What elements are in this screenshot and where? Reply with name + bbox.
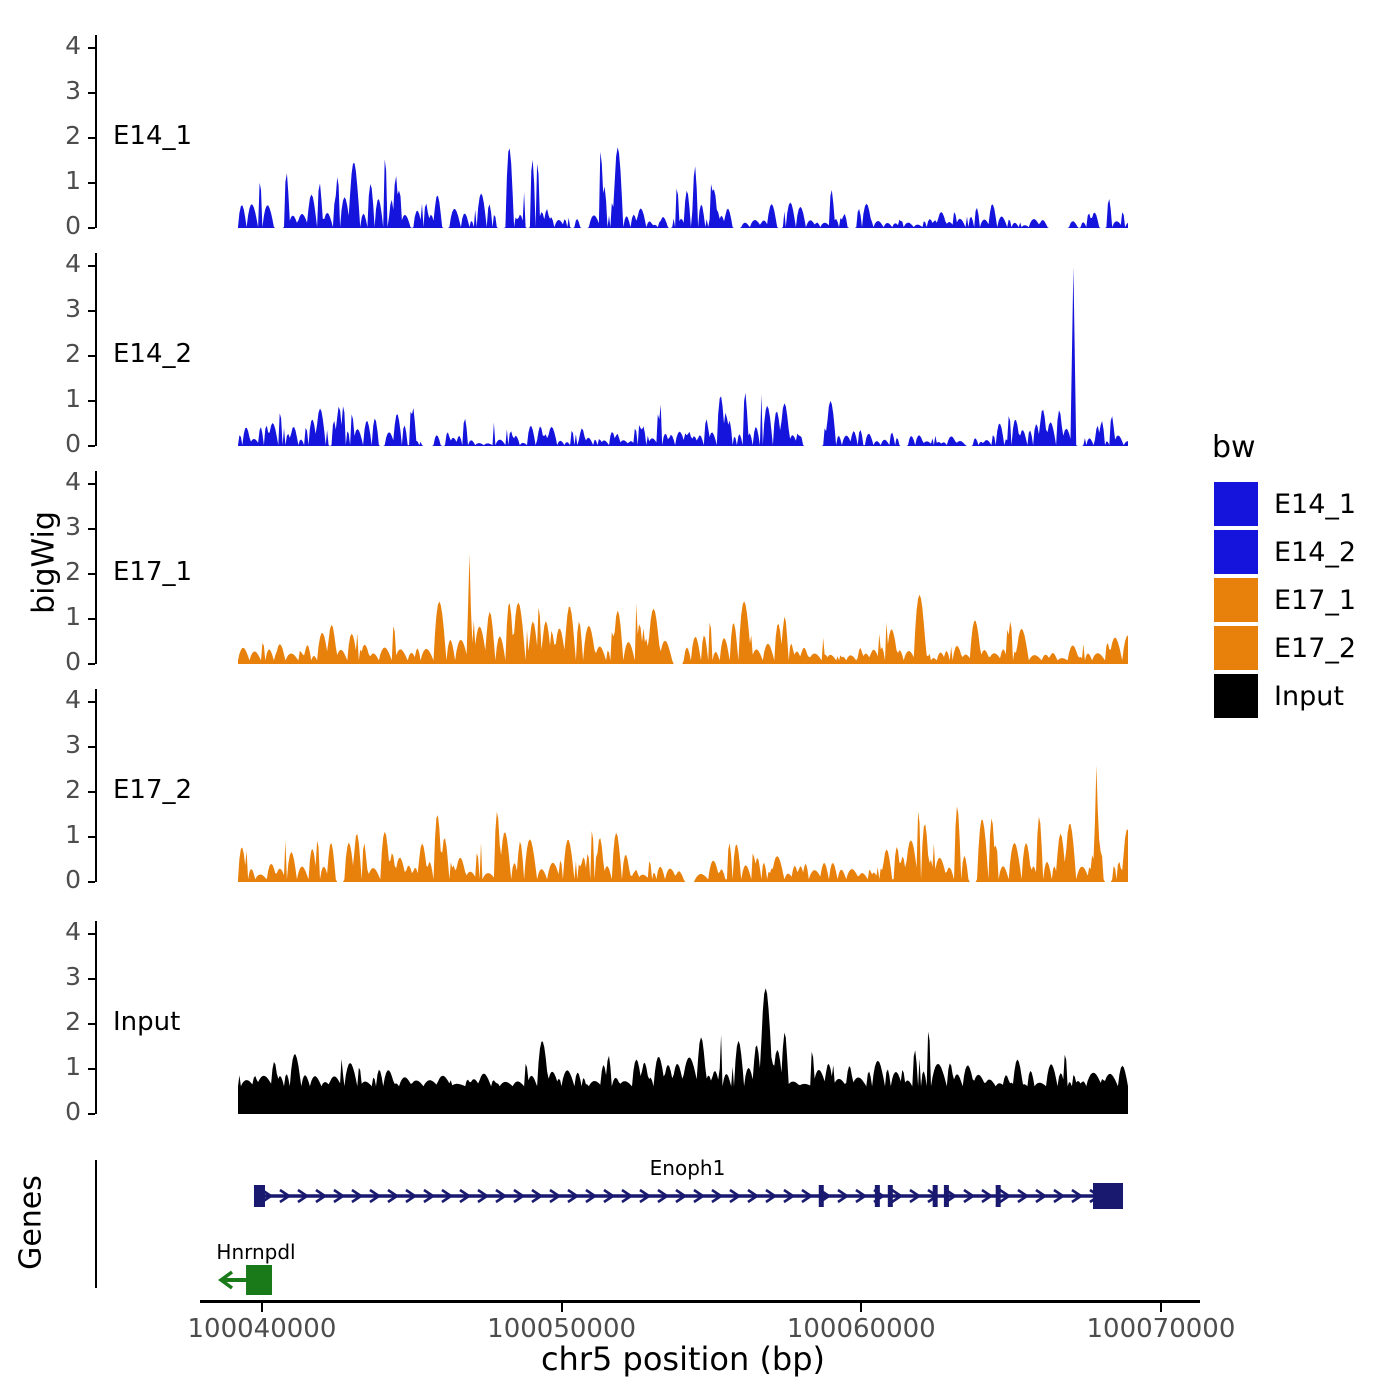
coverage-track-input[interactable]	[0, 0, 1400, 1400]
exon	[875, 1185, 880, 1207]
y-tick-e14_2-4	[88, 265, 95, 267]
y-tick-label-input-3: 3	[33, 962, 81, 991]
y-tick-input-1	[88, 1068, 95, 1070]
x-tick-100060000	[860, 1303, 862, 1312]
y-axis-title-genes: Genes	[14, 1163, 49, 1283]
exon	[819, 1185, 824, 1207]
y-tick-label-e17_2-2: 2	[33, 775, 81, 804]
y-tick-e17_1-4	[88, 483, 95, 485]
legend-label-e17_2: E17_2	[1274, 633, 1356, 664]
y-tick-label-e17_1-2: 2	[33, 557, 81, 586]
exon	[996, 1185, 1001, 1207]
y-axis-line-e14_1	[95, 35, 97, 228]
y-tick-e17_2-4	[88, 701, 95, 703]
y-tick-label-e17_2-4: 4	[33, 685, 81, 714]
legend-swatch-e14_1[interactable]	[1214, 482, 1258, 526]
y-tick-label-e17_2-1: 1	[33, 820, 81, 849]
exon	[944, 1185, 949, 1207]
exon	[259, 1185, 264, 1207]
genome-browser-figure: bigWig Genes 01234E14_101234E14_201234E1…	[0, 0, 1400, 1400]
y-tick-e17_1-2	[88, 573, 95, 575]
coverage-track-e14_1[interactable]	[0, 0, 1400, 1400]
y-tick-label-e14_2-1: 1	[33, 384, 81, 413]
y-axis-line-e17_2	[95, 689, 97, 882]
legend-label-e17_1: E17_1	[1274, 585, 1356, 616]
track-label-e17_1: E17_1	[113, 557, 192, 587]
y-tick-e17_1-1	[88, 618, 95, 620]
y-tick-e14_1-4	[88, 47, 95, 49]
y-tick-input-4	[88, 933, 95, 935]
x-tick-100050000	[561, 1303, 563, 1312]
x-axis-line	[200, 1300, 1200, 1303]
legend-label-e14_2: E14_2	[1274, 537, 1356, 568]
y-tick-label-e14_1-3: 3	[33, 76, 81, 105]
x-tick-100070000	[1160, 1303, 1162, 1312]
y-tick-e14_1-0	[88, 227, 95, 229]
legend: bw E14_1E14_2E17_1E17_2Input	[1212, 430, 1400, 690]
gene-enoph1[interactable]	[254, 1183, 1123, 1209]
gene-hnrnpdl[interactable]	[221, 1265, 272, 1295]
y-tick-label-e17_1-0: 0	[33, 647, 81, 676]
y-axis-line-e17_1	[95, 471, 97, 664]
y-tick-e14_2-2	[88, 355, 95, 357]
y-tick-label-e17_2-3: 3	[33, 730, 81, 759]
track-label-e17_2: E17_2	[113, 775, 192, 805]
y-tick-input-2	[88, 1023, 95, 1025]
exon-last	[1093, 1183, 1123, 1209]
y-tick-label-input-2: 2	[33, 1007, 81, 1036]
legend-label-input: Input	[1274, 681, 1344, 712]
legend-swatch-e14_2[interactable]	[1214, 530, 1258, 574]
y-tick-label-e14_2-3: 3	[33, 294, 81, 323]
track-label-input: Input	[113, 1007, 180, 1037]
y-tick-label-e17_1-4: 4	[33, 467, 81, 496]
y-tick-label-input-1: 1	[33, 1052, 81, 1081]
y-tick-e14_2-3	[88, 310, 95, 312]
y-tick-e17_2-1	[88, 836, 95, 838]
genes-panel-axis-line	[95, 1160, 97, 1288]
y-tick-e14_1-1	[88, 182, 95, 184]
y-tick-label-e14_2-4: 4	[33, 249, 81, 278]
y-tick-label-e14_1-4: 4	[33, 31, 81, 60]
y-tick-label-e14_2-0: 0	[33, 429, 81, 458]
gene-label-hnrnpdl: Hnrnpdl	[146, 1240, 366, 1264]
y-tick-label-input-4: 4	[33, 917, 81, 946]
y-tick-label-e14_1-2: 2	[33, 121, 81, 150]
legend-label-e14_1: E14_1	[1274, 489, 1356, 520]
track-label-e14_2: E14_2	[113, 339, 192, 369]
y-tick-e17_1-0	[88, 663, 95, 665]
x-tick-100040000	[261, 1303, 263, 1312]
y-tick-input-0	[88, 1113, 95, 1115]
y-tick-label-e17_2-0: 0	[33, 865, 81, 894]
exon	[933, 1185, 938, 1207]
coverage-track-e14_2[interactable]	[0, 0, 1400, 1400]
y-tick-label-input-0: 0	[33, 1097, 81, 1126]
legend-title: bw	[1212, 430, 1256, 465]
exon-block	[246, 1265, 272, 1295]
y-tick-label-e14_1-0: 0	[33, 211, 81, 240]
y-axis-line-e14_2	[95, 253, 97, 446]
y-tick-label-e14_1-1: 1	[33, 166, 81, 195]
y-tick-e17_2-2	[88, 791, 95, 793]
y-tick-e14_1-2	[88, 137, 95, 139]
y-tick-e17_2-0	[88, 881, 95, 883]
legend-swatch-e17_1[interactable]	[1214, 578, 1258, 622]
y-tick-label-e14_2-2: 2	[33, 339, 81, 368]
y-tick-e14_2-0	[88, 445, 95, 447]
y-tick-label-e17_1-3: 3	[33, 512, 81, 541]
y-tick-e17_1-3	[88, 528, 95, 530]
y-tick-input-3	[88, 978, 95, 980]
y-tick-e14_2-1	[88, 400, 95, 402]
y-axis-line-input	[95, 921, 97, 1114]
coverage-track-e17_2[interactable]	[0, 0, 1400, 1400]
exon	[256, 1185, 261, 1207]
y-tick-label-e17_1-1: 1	[33, 602, 81, 631]
genes-track[interactable]	[0, 0, 1400, 1400]
y-tick-e14_1-3	[88, 92, 95, 94]
x-axis-title: chr5 position (bp)	[238, 1340, 1128, 1378]
gene-label-enoph1: Enoph1	[577, 1156, 797, 1180]
legend-swatch-e17_2[interactable]	[1214, 626, 1258, 670]
legend-swatch-input[interactable]	[1214, 674, 1258, 718]
y-tick-e17_2-3	[88, 746, 95, 748]
track-label-e14_1: E14_1	[113, 121, 192, 151]
exon-first	[254, 1185, 265, 1207]
coverage-track-e17_1[interactable]	[0, 0, 1400, 1400]
exon	[888, 1185, 893, 1207]
